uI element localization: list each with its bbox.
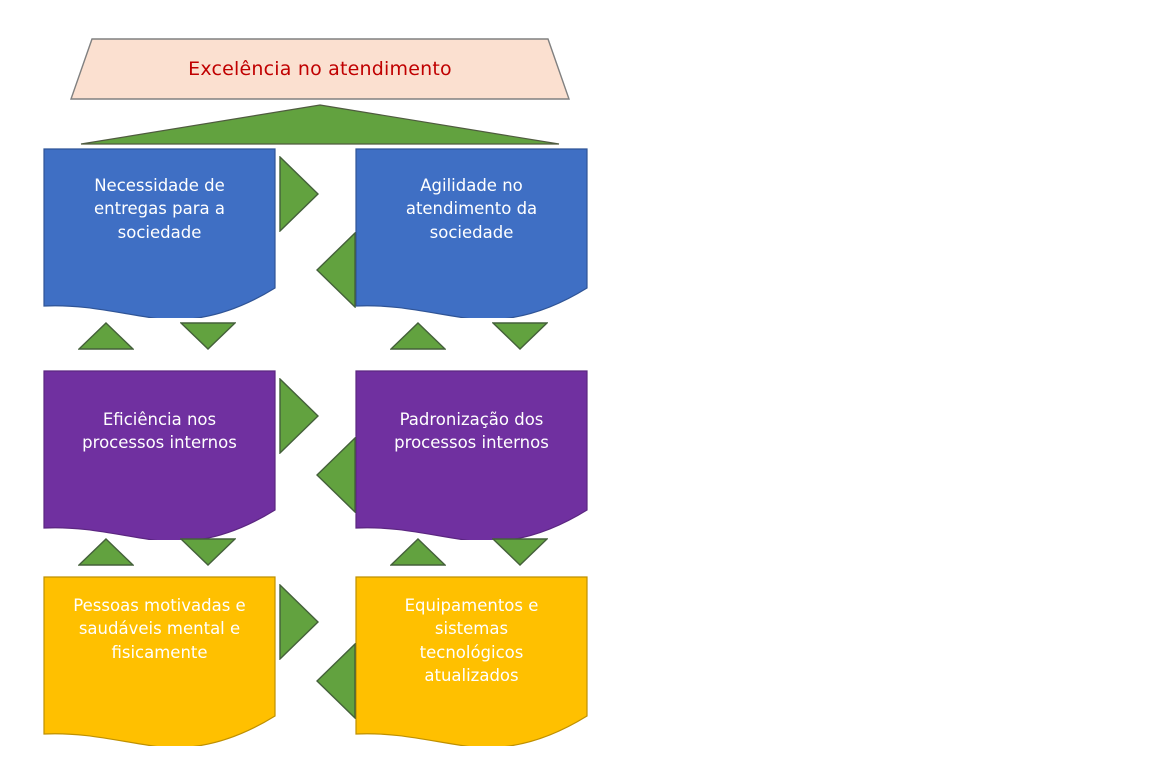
arrow-up-col1-row1-2 xyxy=(78,322,134,350)
triangle-left-icon xyxy=(316,232,356,308)
arrow-up-col1-row2-3 xyxy=(78,538,134,566)
green-spreader-triangle xyxy=(80,104,560,146)
arrow-right-row3 xyxy=(279,584,319,660)
arrow-up-col2-row2-3 xyxy=(390,538,446,566)
arrow-left-row3 xyxy=(316,643,356,719)
box-necessidade-entregas[interactable]: Necessidade de entregas para a sociedade xyxy=(43,148,276,318)
arrow-right-row2 xyxy=(279,378,319,454)
triangle-up-icon xyxy=(78,538,134,566)
arrow-right-row1 xyxy=(279,156,319,232)
triangle-down-icon xyxy=(492,538,548,566)
wave-shape xyxy=(43,576,276,746)
box-padronizacao-processos[interactable]: Padronização dos processos internos xyxy=(355,370,588,540)
box-eficiencia-processos[interactable]: Eficiência nos processos internos xyxy=(43,370,276,540)
triangle-right-icon xyxy=(279,156,319,232)
triangle-up-icon xyxy=(78,322,134,350)
triangle-up-icon xyxy=(390,322,446,350)
wave-shape xyxy=(43,148,276,318)
wave-shape xyxy=(355,148,588,318)
box-equipamentos-sistemas[interactable]: Equipamentos e sistemas tecnológicos atu… xyxy=(355,576,588,746)
spreader-shape xyxy=(80,104,560,146)
box-agilidade-atendimento[interactable]: Agilidade no atendimento da sociedade xyxy=(355,148,588,318)
banner-shape xyxy=(70,38,570,100)
wave-shape xyxy=(43,370,276,540)
arrow-down-col1-row1-2 xyxy=(180,322,236,350)
wave-shape xyxy=(355,576,588,746)
triangle-down-icon xyxy=(492,322,548,350)
triangle-down-icon xyxy=(180,538,236,566)
arrow-down-col1-row2-3 xyxy=(180,538,236,566)
arrow-down-col2-row2-3 xyxy=(492,538,548,566)
triangle-right-icon xyxy=(279,584,319,660)
diagram-canvas: Excelência no atendimento Necessidade de… xyxy=(0,0,1152,769)
arrow-left-row2 xyxy=(316,437,356,513)
box-pessoas-motivadas[interactable]: Pessoas motivadas e saudáveis mental e f… xyxy=(43,576,276,746)
banner-excelencia[interactable]: Excelência no atendimento xyxy=(70,38,570,100)
arrow-down-col2-row1-2 xyxy=(492,322,548,350)
triangle-right-icon xyxy=(279,378,319,454)
triangle-down-icon xyxy=(180,322,236,350)
arrow-left-row1 xyxy=(316,232,356,308)
triangle-left-icon xyxy=(316,643,356,719)
wave-shape xyxy=(355,370,588,540)
arrow-up-col2-row1-2 xyxy=(390,322,446,350)
triangle-up-icon xyxy=(390,538,446,566)
triangle-left-icon xyxy=(316,437,356,513)
